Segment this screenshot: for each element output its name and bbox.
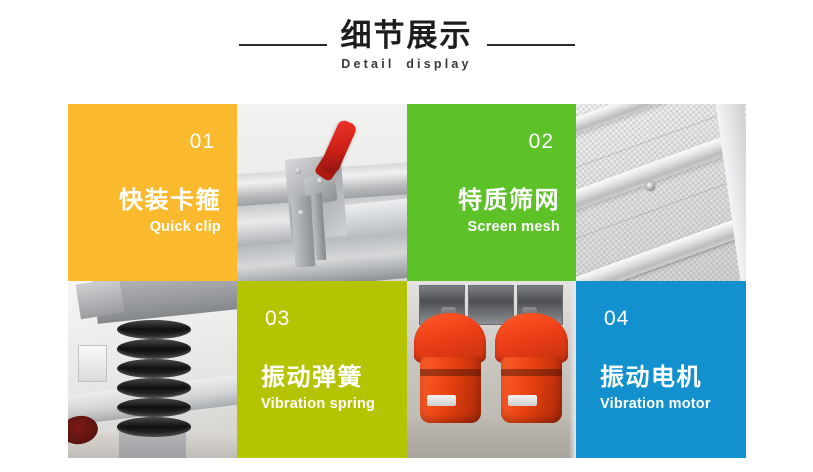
tile-title-en-02: Screen mesh [458,217,560,237]
detail-grid: 01 快装卡箍 Quick clip 02 [68,104,746,458]
tile-text-04: 振动电机 Vibration motor [600,362,711,414]
tile-title-cn-01: 快装卡箍 [119,185,221,215]
screen-mesh-photo [576,104,746,281]
page-header: 细节展示 Detail display [0,0,813,104]
motor-right-nameplate [508,395,537,407]
spring-coil-4 [117,378,191,397]
motor-left-nameplate [427,395,456,407]
vibration-motor-photo [407,281,576,458]
tile-title-cn-04: 振动电机 [600,362,711,392]
spring-coil-5 [117,398,191,417]
grid-cell-photo-screen-mesh [576,104,746,281]
tile-number-03: 03 [265,307,290,331]
title-group: 细节展示 Detail display [239,18,575,71]
tile-number-01: 01 [190,130,215,154]
tile-number-02: 02 [529,130,554,154]
caption-tile-01[interactable]: 01 快装卡箍 Quick clip [68,104,237,281]
grid-cell-photo-vibration-spring [68,281,237,458]
grid-cell-caption-01: 01 快装卡箍 Quick clip [68,104,237,281]
motor-left-band [420,369,481,376]
grid-cell-caption-03: 03 振动弹簧 Vibration spring [237,281,407,458]
motor-right-band [501,369,562,376]
grid-cell-photo-quick-clip [237,104,407,281]
tile-title-cn-03: 振动弹簧 [261,362,375,392]
motor-left-drum [420,357,481,422]
tile-number-04: 04 [604,307,629,331]
title-text-block: 细节展示 Detail display [341,18,473,71]
page-title: 细节展示 [341,18,473,54]
tile-title-en-04: Vibration motor [600,394,711,414]
mesh-rivet [646,182,655,191]
mesh-support-bar-lower [576,203,746,281]
clamp-bolt-a [295,168,301,174]
mesh-frame-right [713,104,746,281]
spring-upper-bracket [76,281,125,320]
title-rule-left [239,44,327,46]
motor-right-edge [569,281,576,458]
title-rule-right [487,44,575,46]
motor-unit-left [414,313,487,430]
motor-right-drum [501,357,562,422]
caption-tile-04[interactable]: 04 振动电机 Vibration motor [576,281,746,458]
grid-cell-caption-04: 04 振动电机 Vibration motor [576,281,746,458]
spring-coil-1 [117,320,191,339]
grid-cell-photo-vibration-motor [407,281,576,458]
spring-coil-3 [117,359,191,378]
spring-coil-2 [117,339,191,358]
caption-tile-02[interactable]: 02 特质筛网 Screen mesh [407,104,576,281]
tile-title-cn-02: 特质筛网 [458,185,560,215]
spring-wall-plate [78,345,107,382]
motor-unit-right [495,313,568,430]
caption-tile-03[interactable]: 03 振动弹簧 Vibration spring [237,281,407,458]
tile-text-03: 振动弹簧 Vibration spring [261,362,375,414]
tile-title-en-01: Quick clip [119,217,221,237]
vibration-spring-photo [68,281,237,458]
quick-clip-photo [237,104,407,281]
grid-cell-caption-02: 02 特质筛网 Screen mesh [407,104,576,281]
tile-text-02: 特质筛网 Screen mesh [458,185,560,237]
tile-title-en-03: Vibration spring [261,394,375,414]
spring-coil-6 [117,417,191,436]
tile-text-01: 快装卡箍 Quick clip [119,185,221,237]
page-subtitle: Detail display [341,57,471,71]
